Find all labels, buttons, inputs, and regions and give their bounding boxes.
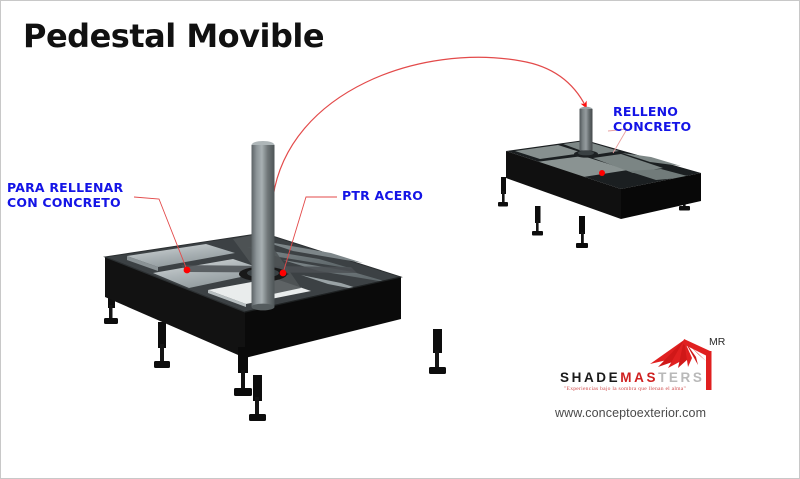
marker-dot-pole-base: [280, 270, 287, 277]
pedestal-open-frame: [104, 233, 446, 421]
callout-para-rellenar-con-concreto: PARA RELLENAR CON CONCRETO: [7, 181, 123, 211]
callout-relleno-concreto: RELLENO CONCRETO: [613, 105, 691, 135]
callout-line-2: CON CONCRETO: [7, 196, 123, 211]
callout-line-2: CONCRETO: [613, 120, 691, 135]
marker-dot-filled-deck: [599, 170, 605, 176]
diagram-canvas: Pedestal Movible: [0, 0, 800, 479]
brand-tagline: "Experiencias bajo la sombra que llenan …: [564, 386, 686, 392]
callout-line-1: PTR ACERO: [342, 189, 423, 204]
pedestal-filled: [498, 140, 701, 248]
brand-logo-block: MR SHADEMASTERS "Experiencias bajo la so…: [546, 334, 746, 429]
brand-wordmark: SHADEMASTERS: [560, 370, 704, 385]
trademark-mark: MR: [709, 336, 725, 348]
callout-line-1: RELLENO: [613, 105, 691, 120]
callout-line-1: PARA RELLENAR: [7, 181, 123, 196]
callout-ptr-acero: PTR ACERO: [342, 189, 423, 204]
marker-dot-concrete-cell: [184, 267, 191, 274]
wordmark-ters: TERS: [658, 370, 704, 385]
wordmark-shade: SHADE: [560, 370, 620, 385]
brand-website-url[interactable]: www.conceptoexterior.com: [555, 406, 706, 420]
wordmark-mas: MAS: [620, 370, 658, 385]
